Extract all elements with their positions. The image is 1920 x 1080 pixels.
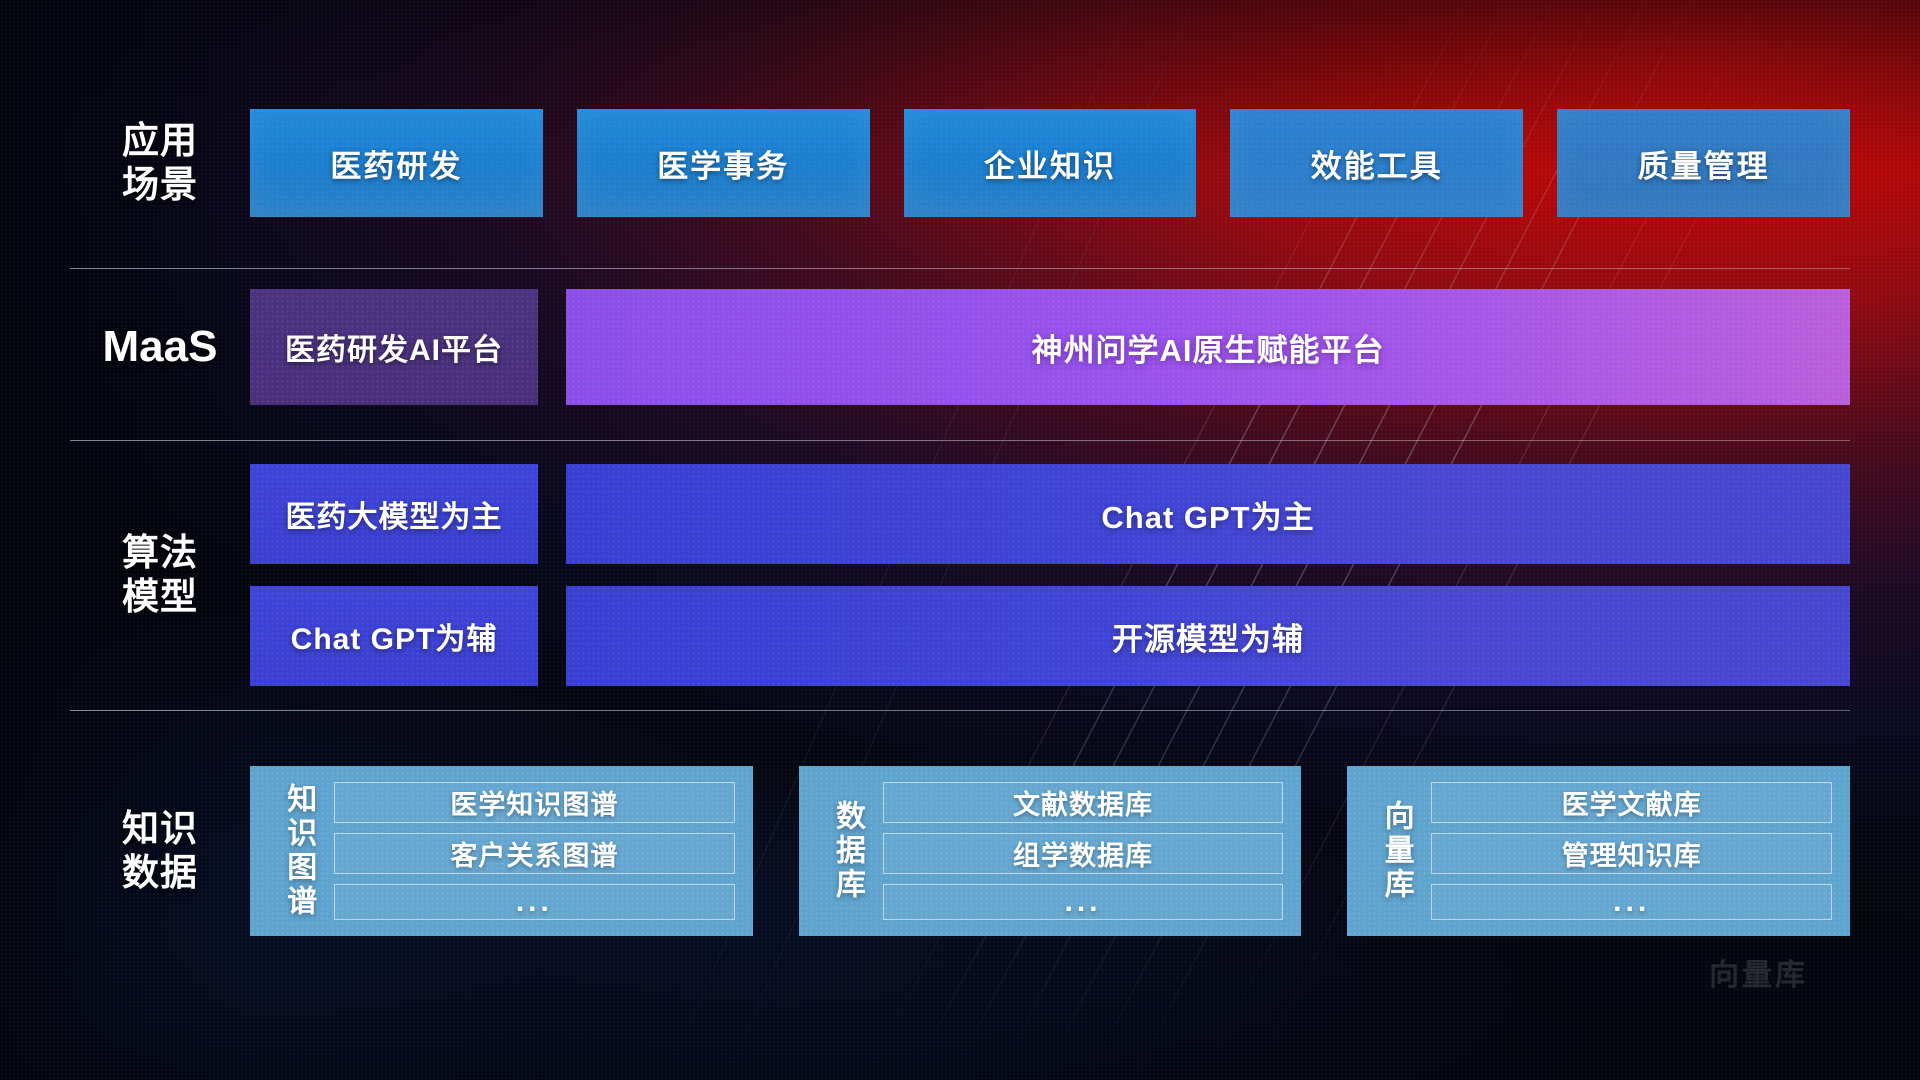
row-label-application-scenarios: 应用 场景 xyxy=(70,119,250,206)
algorithm-model-cards: 医药大模型为主 Chat GPT为主 Chat GPT为辅 开源模型为辅 xyxy=(250,464,1850,686)
knowledge-item-more[interactable]: ... xyxy=(334,884,735,920)
maas-card-label: 医药研发AI平台 xyxy=(285,325,503,369)
row-label-algorithm-models: 算法 模型 xyxy=(70,531,250,618)
knowledge-item-customer-relation-graph[interactable]: 客户关系图谱 xyxy=(334,833,735,874)
algo-card-chatgpt-primary[interactable]: Chat GPT为主 xyxy=(566,464,1850,564)
app-card-label: 效能工具 xyxy=(1311,141,1443,186)
knowledge-item-more[interactable]: ... xyxy=(883,884,1284,920)
diagram-canvas: 应用 场景 医药研发 医学事务 企业知识 效能工具 质量管理 xyxy=(0,0,1920,1080)
knowledge-item-medical-literature-store[interactable]: 医学文献库 xyxy=(1431,782,1832,823)
row-algorithm-models: 算法 模型 医药大模型为主 Chat GPT为主 Chat GPT为辅 开源模型… xyxy=(70,462,1850,688)
algo-card-chatgpt-secondary[interactable]: Chat GPT为辅 xyxy=(250,586,538,686)
algo-card-label: Chat GPT为主 xyxy=(1101,492,1314,537)
knowledge-item-management-knowledge-store[interactable]: 管理知识库 xyxy=(1431,833,1832,874)
knowledge-item-more[interactable]: ... xyxy=(1431,884,1832,920)
knowledge-group-items: 文献数据库 组学数据库 ... xyxy=(883,782,1284,920)
app-card-medical-affairs[interactable]: 医学事务 xyxy=(577,109,870,217)
knowledge-group-title: 数据库 xyxy=(811,782,883,920)
app-card-label: 企业知识 xyxy=(984,141,1116,186)
app-card-label: 医学事务 xyxy=(657,141,789,186)
algo-card-label: 开源模型为辅 xyxy=(1112,614,1304,659)
knowledge-item-medical-knowledge-graph[interactable]: 医学知识图谱 xyxy=(334,782,735,823)
algo-card-label: 医药大模型为主 xyxy=(286,492,503,536)
row-label-knowledge-data: 知识 数据 xyxy=(70,807,250,894)
app-card-label: 质量管理 xyxy=(1638,141,1770,186)
maas-cards: 医药研发AI平台 神州问学AI原生赋能平台 xyxy=(250,289,1850,405)
maas-card-shenzhou-wenxue-platform[interactable]: 神州问学AI原生赋能平台 xyxy=(566,289,1850,405)
row-label-maas: MaaS xyxy=(70,321,250,373)
row-application-scenarios: 应用 场景 医药研发 医学事务 企业知识 效能工具 质量管理 xyxy=(70,108,1850,218)
maas-card-drug-rd-platform[interactable]: 医药研发AI平台 xyxy=(250,289,538,405)
knowledge-group-vector-store[interactable]: 向量库 医学文献库 管理知识库 ... xyxy=(1347,766,1850,936)
knowledge-group-knowledge-graph[interactable]: 知识图谱 医学知识图谱 客户关系图谱 ... xyxy=(250,766,753,936)
row-knowledge-data: 知识 数据 知识图谱 医学知识图谱 客户关系图谱 ... 数据库 文献数据库 组… xyxy=(70,730,1850,972)
knowledge-item-omics-database[interactable]: 组学数据库 xyxy=(883,833,1284,874)
separator-3 xyxy=(70,710,1850,711)
app-card-label: 医药研发 xyxy=(330,141,462,186)
app-card-drug-rd[interactable]: 医药研发 xyxy=(250,109,543,217)
algorithm-line-secondary: Chat GPT为辅 开源模型为辅 xyxy=(250,586,1850,686)
algorithm-line-primary: 医药大模型为主 Chat GPT为主 xyxy=(250,464,1850,564)
knowledge-group-items: 医学知识图谱 客户关系图谱 ... xyxy=(334,782,735,920)
algo-card-opensource-secondary[interactable]: 开源模型为辅 xyxy=(566,586,1850,686)
app-card-efficiency-tools[interactable]: 效能工具 xyxy=(1230,109,1523,217)
app-card-enterprise-knowledge[interactable]: 企业知识 xyxy=(904,109,1197,217)
maas-card-label: 神州问学AI原生赋能平台 xyxy=(1032,325,1385,370)
knowledge-group-items: 医学文献库 管理知识库 ... xyxy=(1431,782,1832,920)
algo-card-label: Chat GPT为辅 xyxy=(291,614,498,658)
separator-2 xyxy=(70,440,1850,441)
knowledge-group-title: 知识图谱 xyxy=(262,782,334,920)
knowledge-group-title: 向量库 xyxy=(1359,782,1431,920)
separator-1 xyxy=(70,268,1850,269)
row-maas: MaaS 医药研发AI平台 神州问学AI原生赋能平台 xyxy=(70,288,1850,406)
algo-card-pharma-llm-primary[interactable]: 医药大模型为主 xyxy=(250,464,538,564)
app-card-quality-management[interactable]: 质量管理 xyxy=(1557,109,1850,217)
knowledge-data-groups: 知识图谱 医学知识图谱 客户关系图谱 ... 数据库 文献数据库 组学数据库 .… xyxy=(250,766,1850,936)
knowledge-group-database[interactable]: 数据库 文献数据库 组学数据库 ... xyxy=(799,766,1302,936)
knowledge-item-literature-database[interactable]: 文献数据库 xyxy=(883,782,1284,823)
application-scenario-cards: 医药研发 医学事务 企业知识 效能工具 质量管理 xyxy=(250,109,1850,217)
